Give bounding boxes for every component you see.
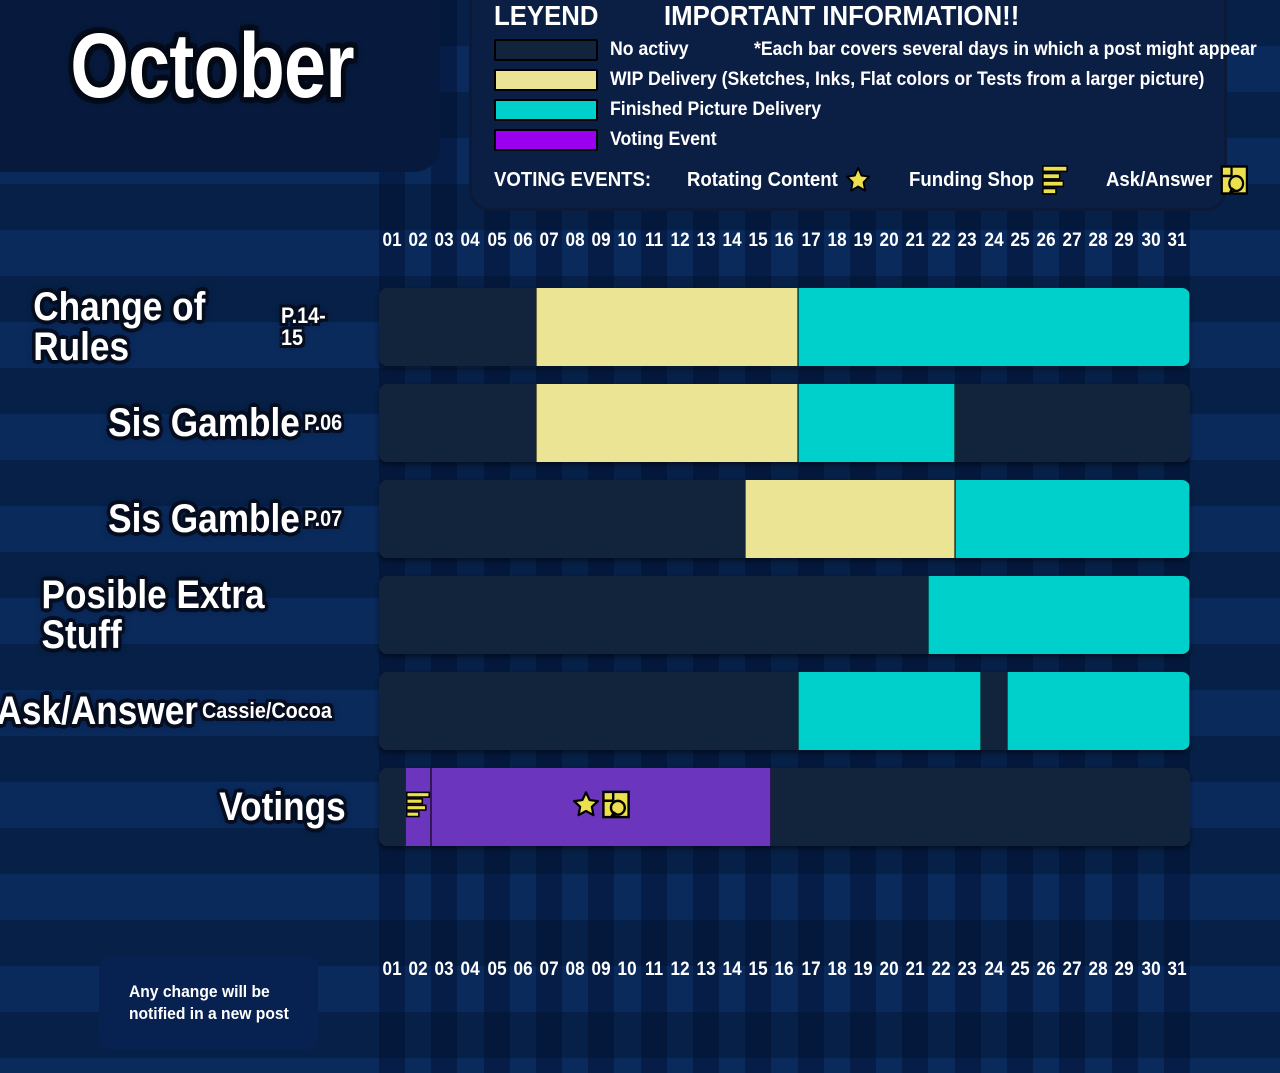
row-label-change-of-rules: Change of RulesP.14-15 bbox=[0, 288, 368, 366]
voting-event-label-rotating-content: Rotating Content bbox=[687, 169, 838, 192]
task-segment-no-activity[interactable] bbox=[379, 480, 745, 558]
legend-swatch-no-activity bbox=[494, 39, 598, 61]
task-bar-track[interactable] bbox=[379, 576, 1190, 654]
legend-label-finished: Finished Picture Delivery bbox=[610, 99, 821, 121]
day-label-30: 30 bbox=[1139, 959, 1163, 987]
task-segment-voting[interactable] bbox=[431, 768, 771, 846]
task-segment-no-activity[interactable] bbox=[379, 672, 798, 750]
legend-label-wip: WIP Delivery (Sketches, Inks, Flat color… bbox=[610, 69, 1204, 91]
day-label-28: 28 bbox=[1087, 230, 1111, 258]
voting-event-rotating-content: Rotating Content bbox=[687, 166, 871, 194]
day-axis-bottom: 0102030405060708091011121314151617181920… bbox=[379, 959, 1190, 987]
day-label-25: 25 bbox=[1008, 230, 1032, 258]
voting-events-row: VOTING EVENTS: Rotating Content Funding … bbox=[494, 164, 1206, 196]
legend-label-voting: Voting Event bbox=[610, 129, 717, 151]
footer-note-text: Any change will be notified in a new pos… bbox=[129, 981, 289, 1024]
legend-swatch-finished bbox=[494, 99, 598, 121]
day-label-23: 23 bbox=[956, 959, 980, 987]
shop-bars-icon bbox=[405, 790, 431, 825]
day-label-27: 27 bbox=[1060, 230, 1084, 258]
task-bar-track[interactable] bbox=[379, 384, 1190, 462]
task-segment-no-activity[interactable] bbox=[379, 288, 536, 366]
task-segment-finished[interactable] bbox=[1007, 672, 1190, 750]
day-label-19: 19 bbox=[851, 230, 875, 258]
day-label-07: 07 bbox=[537, 230, 561, 258]
day-label-27: 27 bbox=[1060, 959, 1084, 987]
voting-icons bbox=[572, 791, 630, 824]
task-segment-voting[interactable] bbox=[405, 768, 431, 846]
day-label-26: 26 bbox=[1034, 959, 1058, 987]
day-label-02: 02 bbox=[406, 230, 430, 258]
row-label-ask-answer: Ask/AnswerCassie/Cocoa bbox=[0, 672, 368, 750]
row-label-sub: Cassie/Cocoa bbox=[202, 700, 332, 722]
task-segment-finished[interactable] bbox=[955, 480, 1190, 558]
day-label-02: 02 bbox=[406, 959, 430, 987]
row-label-main: Posible Extra Stuff bbox=[42, 575, 346, 655]
task-segment-no-activity[interactable] bbox=[379, 576, 928, 654]
day-axis-top: 0102030405060708091011121314151617181920… bbox=[379, 230, 1190, 258]
legend-swatch-voting bbox=[494, 129, 598, 151]
day-label-10: 10 bbox=[616, 959, 640, 987]
day-label-09: 09 bbox=[590, 230, 614, 258]
day-label-24: 24 bbox=[982, 230, 1006, 258]
day-label-03: 03 bbox=[433, 959, 457, 987]
day-label-19: 19 bbox=[851, 959, 875, 987]
day-label-13: 13 bbox=[694, 959, 718, 987]
task-bar-track[interactable] bbox=[379, 480, 1190, 558]
day-label-28: 28 bbox=[1087, 959, 1111, 987]
row-label-main: Sis Gamble bbox=[108, 403, 300, 443]
voting-events-label: VOTING EVENTS: bbox=[494, 169, 651, 192]
day-label-15: 15 bbox=[746, 230, 770, 258]
star-icon bbox=[572, 791, 600, 824]
legend-items: No activy *Each bar covers several days … bbox=[494, 36, 1206, 154]
legend-bar-note: *Each bar covers several days in which a… bbox=[754, 39, 1257, 61]
row-label-main: Sis Gamble bbox=[108, 499, 300, 539]
voting-event-funding-shop: Funding Shop bbox=[909, 164, 1069, 196]
task-segment-finished[interactable] bbox=[928, 576, 1190, 654]
row-label-sis-gamble: Sis GambleP.07 bbox=[0, 480, 368, 558]
footer-note-box: Any change will be notified in a new pos… bbox=[99, 955, 318, 1050]
legend-item-wip: WIP Delivery (Sketches, Inks, Flat color… bbox=[494, 66, 1206, 94]
day-label-01: 01 bbox=[380, 959, 404, 987]
legend-heading: LEYEND bbox=[494, 0, 598, 32]
day-label-22: 22 bbox=[930, 230, 954, 258]
day-label-14: 14 bbox=[720, 230, 744, 258]
day-label-06: 06 bbox=[511, 959, 535, 987]
day-label-18: 18 bbox=[825, 230, 849, 258]
voting-icons bbox=[405, 790, 431, 825]
day-label-25: 25 bbox=[1008, 959, 1032, 987]
shop-bars-icon bbox=[1042, 164, 1070, 196]
row-label-sis-gamble: Sis GambleP.06 bbox=[0, 384, 368, 462]
day-label-15: 15 bbox=[746, 959, 770, 987]
task-bar-track[interactable] bbox=[379, 768, 1190, 846]
task-segment-no-activity[interactable] bbox=[379, 768, 405, 846]
day-label-20: 20 bbox=[877, 959, 901, 987]
day-label-17: 17 bbox=[799, 959, 823, 987]
page-title: October bbox=[70, 14, 354, 119]
legend-item-finished: Finished Picture Delivery bbox=[494, 96, 1206, 124]
day-label-24: 24 bbox=[982, 959, 1006, 987]
day-label-31: 31 bbox=[1165, 959, 1189, 987]
row-label-sub: P.07 bbox=[304, 508, 342, 530]
day-label-21: 21 bbox=[903, 959, 927, 987]
day-label-29: 29 bbox=[1113, 230, 1137, 258]
day-label-04: 04 bbox=[459, 959, 483, 987]
legend-item-voting: Voting Event bbox=[494, 126, 1206, 154]
day-label-11: 11 bbox=[642, 230, 666, 258]
legend-headings: LEYEND IMPORTANT INFORMATION!! bbox=[494, 0, 1206, 32]
row-label-votings: Votings bbox=[0, 768, 368, 846]
task-segment-no-activity[interactable] bbox=[771, 768, 1190, 846]
day-label-16: 16 bbox=[773, 959, 797, 987]
voting-event-label-funding-shop: Funding Shop bbox=[909, 169, 1034, 192]
task-segment-wip[interactable] bbox=[536, 288, 798, 366]
day-label-03: 03 bbox=[433, 230, 457, 258]
day-label-23: 23 bbox=[956, 230, 980, 258]
ask-answer-icon bbox=[1219, 165, 1247, 195]
task-bar-track[interactable] bbox=[379, 288, 1190, 366]
day-label-12: 12 bbox=[668, 959, 692, 987]
task-segment-finished[interactable] bbox=[798, 672, 981, 750]
day-label-18: 18 bbox=[825, 959, 849, 987]
legend-swatch-wip bbox=[494, 69, 598, 91]
day-label-26: 26 bbox=[1034, 230, 1058, 258]
day-label-14: 14 bbox=[720, 959, 744, 987]
star-icon bbox=[845, 166, 871, 194]
day-label-10: 10 bbox=[616, 230, 640, 258]
day-label-06: 06 bbox=[511, 230, 535, 258]
day-label-01: 01 bbox=[380, 230, 404, 258]
day-label-30: 30 bbox=[1139, 230, 1163, 258]
task-bar-track[interactable] bbox=[379, 672, 1190, 750]
task-segment-finished[interactable] bbox=[798, 384, 955, 462]
row-label-main: Change of Rules bbox=[33, 287, 277, 367]
day-label-04: 04 bbox=[459, 230, 483, 258]
day-label-05: 05 bbox=[485, 230, 509, 258]
day-label-16: 16 bbox=[773, 230, 797, 258]
row-label-main: Ask/Answer bbox=[0, 691, 198, 731]
day-label-29: 29 bbox=[1113, 959, 1137, 987]
voting-event-label-ask-answer: Ask/Answer bbox=[1106, 169, 1212, 192]
voting-event-ask-answer: Ask/Answer bbox=[1106, 165, 1248, 195]
day-label-08: 08 bbox=[563, 230, 587, 258]
day-label-07: 07 bbox=[537, 959, 561, 987]
row-label-sub: P.06 bbox=[304, 412, 342, 434]
legend-panel: LEYEND IMPORTANT INFORMATION!! No activy… bbox=[472, 0, 1224, 208]
row-label-main: Votings bbox=[220, 787, 346, 827]
day-label-12: 12 bbox=[668, 230, 692, 258]
day-label-21: 21 bbox=[903, 230, 927, 258]
month-title-panel: October bbox=[0, 0, 440, 172]
task-segment-no-activity[interactable] bbox=[379, 384, 536, 462]
row-label-sub: P.14-15 bbox=[281, 305, 340, 349]
day-label-09: 09 bbox=[590, 959, 614, 987]
day-label-11: 11 bbox=[642, 959, 666, 987]
day-label-05: 05 bbox=[485, 959, 509, 987]
task-segment-no-activity[interactable] bbox=[981, 672, 1007, 750]
day-label-17: 17 bbox=[799, 230, 823, 258]
row-label-posible-extra-stuff: Posible Extra Stuff bbox=[0, 576, 368, 654]
legend-label-no-activity: No activy bbox=[610, 39, 689, 61]
task-segment-wip[interactable] bbox=[745, 480, 954, 558]
day-label-13: 13 bbox=[694, 230, 718, 258]
legend-item-no-activity: No activy *Each bar covers several days … bbox=[494, 36, 1206, 64]
task-segment-no-activity[interactable] bbox=[955, 384, 1190, 462]
ask-answer-icon bbox=[602, 791, 630, 824]
task-segment-wip[interactable] bbox=[536, 384, 798, 462]
day-label-08: 08 bbox=[563, 959, 587, 987]
day-label-20: 20 bbox=[877, 230, 901, 258]
task-segment-finished[interactable] bbox=[798, 288, 1190, 366]
important-information-heading: IMPORTANT INFORMATION!! bbox=[664, 0, 1019, 32]
day-label-31: 31 bbox=[1165, 230, 1189, 258]
day-label-22: 22 bbox=[930, 959, 954, 987]
